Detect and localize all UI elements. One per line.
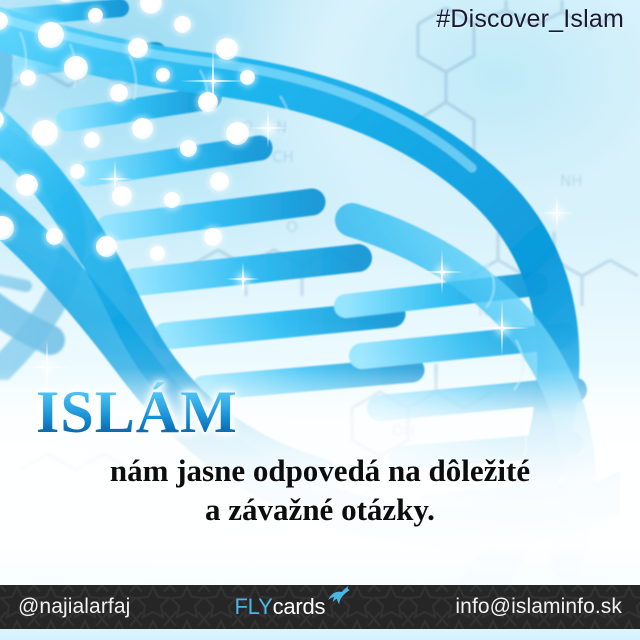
footer-bottom-strip	[0, 629, 640, 640]
bokeh-dots	[0, 0, 290, 290]
discover-islam-card: SOH HON O CH NH N OH	[0, 0, 640, 640]
footer-bar: @najialarfaj FLY cards info@islaminfo.sk	[0, 585, 640, 629]
flycards-logo-cards: cards	[273, 594, 326, 620]
flycards-logo-fly: FLY	[234, 594, 272, 620]
headline-block: ISLÁM nám jasne odpovedá na dôležité a z…	[0, 382, 640, 531]
bird-icon	[327, 585, 351, 613]
headline-line-3: a závažné otázky.	[0, 490, 640, 531]
contact-email[interactable]: info@islaminfo.sk	[455, 595, 622, 619]
hashtag-label: #Discover_Islam	[436, 5, 624, 34]
social-handle[interactable]: @najialarfaj	[18, 595, 130, 619]
headline-line-2: nám jasne odpovedá na dôležité	[0, 451, 640, 492]
flycards-logo[interactable]: FLY cards	[234, 594, 351, 620]
page-title: ISLÁM	[36, 382, 640, 443]
